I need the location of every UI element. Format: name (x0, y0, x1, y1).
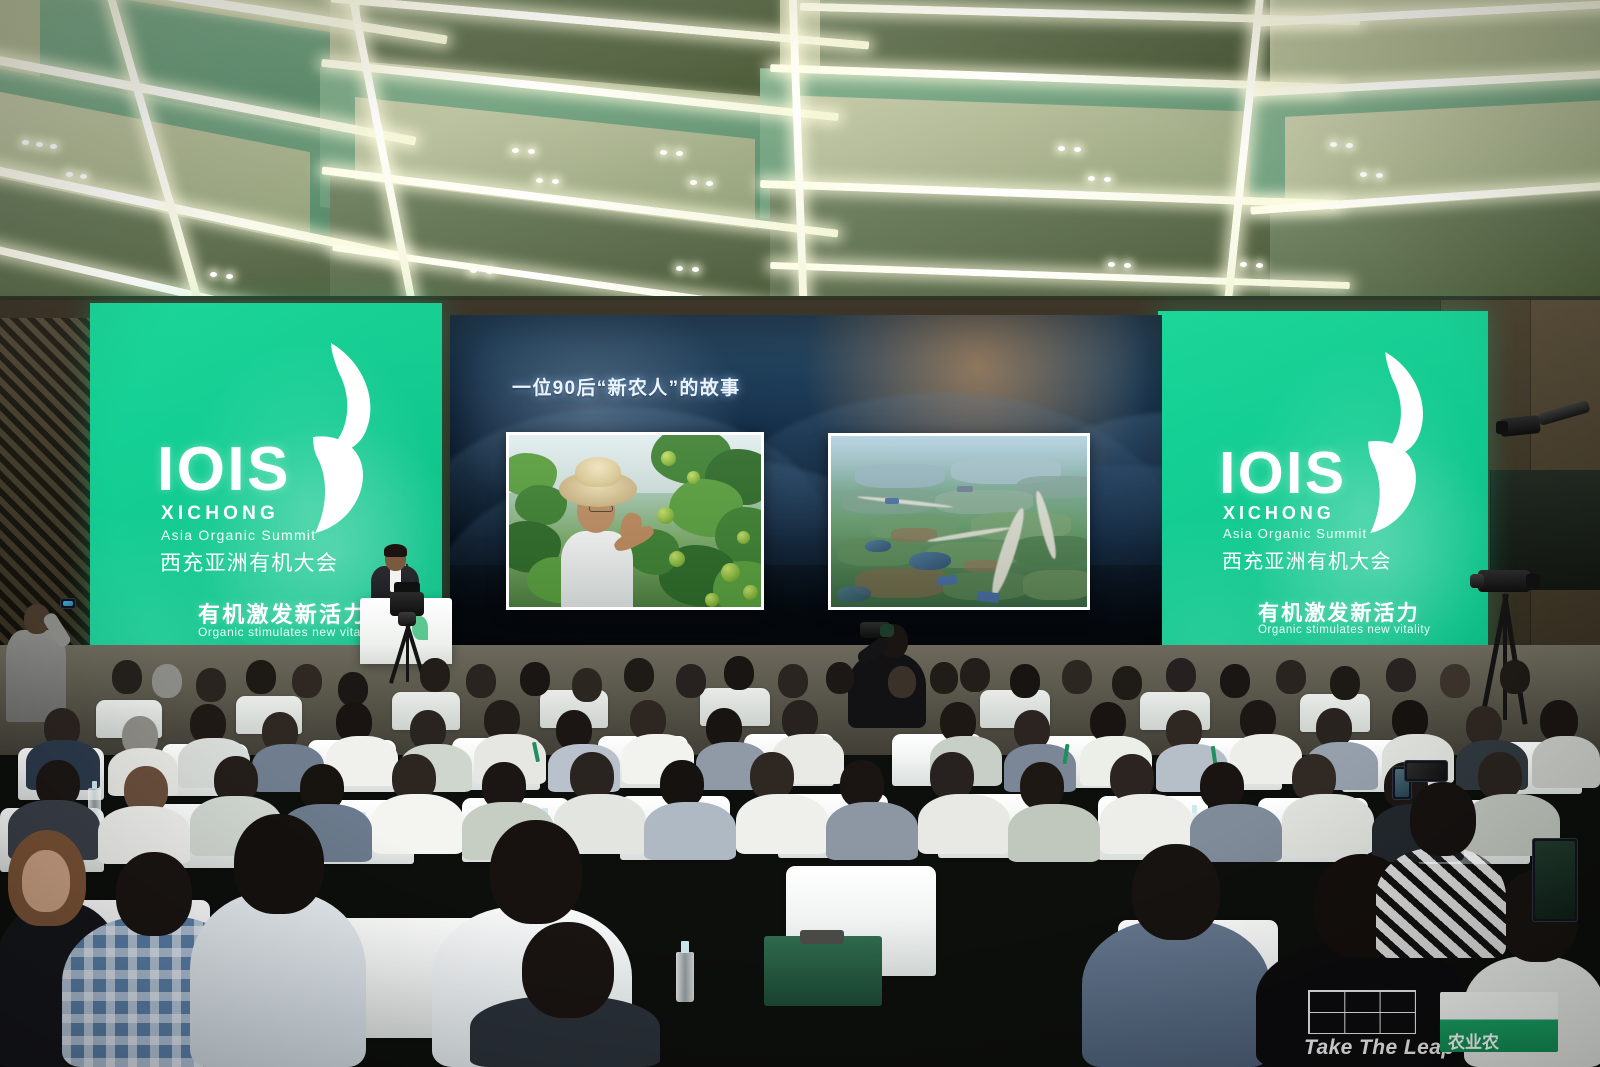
banner-right-tagline-en: Organic stimulates new vitality (1258, 624, 1431, 636)
banner-right-brand-cn: 西充亚洲有机大会 (1222, 545, 1392, 574)
banner-right-brand-eng: Asia Organic Summit (1223, 526, 1367, 541)
floor-banner-text: 农业农 (1448, 1028, 1499, 1052)
banner-right-brand-sub: XICHONG (1223, 503, 1335, 524)
table-skirt (764, 936, 882, 1006)
banner-right-brand: IOIS (1219, 445, 1346, 501)
ceiling (0, 0, 1600, 320)
banner-right-tagline-cn: 有机激发新活力 (1258, 597, 1420, 627)
standing-photographer (2, 592, 86, 722)
banner-left-brand-eng: Asia Organic Summit (161, 527, 316, 543)
speaker-hair (384, 544, 407, 557)
slide-photo-farmer (506, 432, 764, 610)
tshirt-slogan: Take The Leap (1304, 1036, 1455, 1060)
table-top-object (800, 930, 844, 944)
banner-left-brand: IOIS (157, 441, 291, 500)
foreground-attendee-denim (1082, 828, 1270, 1067)
banner-left-brand-cn: 西充亚洲有机大会 (160, 547, 338, 577)
slide-title: 一位90后“新农人”的故事 (512, 373, 740, 400)
conference-hall-photo: IOIS XICHONG Asia Organic Summit 西充亚洲有机大… (0, 0, 1600, 1067)
banner-right: IOIS XICHONG Asia Organic Summit 西充亚洲有机大… (1158, 311, 1488, 689)
attendee-photographing-screen (842, 600, 932, 720)
banner-left-tagline-en: Organic stimulates new vitality (198, 625, 378, 639)
foreground-attendee-center (190, 800, 366, 1067)
attendee-phone-upper-right[interactable] (1404, 760, 1448, 782)
presentation-screen: 一位90后“新农人”的故事 (450, 315, 1162, 683)
broadcast-camera-tripod-upper-right (1494, 405, 1594, 445)
attendee-phone-far-right[interactable] (1532, 838, 1578, 922)
slide-photo-aerial-village (828, 433, 1090, 610)
photographer-phone (60, 598, 76, 609)
foreground-attendee-pattern-blouse (1376, 778, 1506, 958)
tshirt-graphic-print (1308, 990, 1416, 1034)
floor-banner: 农业农 (1440, 992, 1558, 1052)
banner-left-brand-sub: XICHONG (161, 503, 279, 525)
foreground-attendee-front-center (470, 922, 660, 1067)
